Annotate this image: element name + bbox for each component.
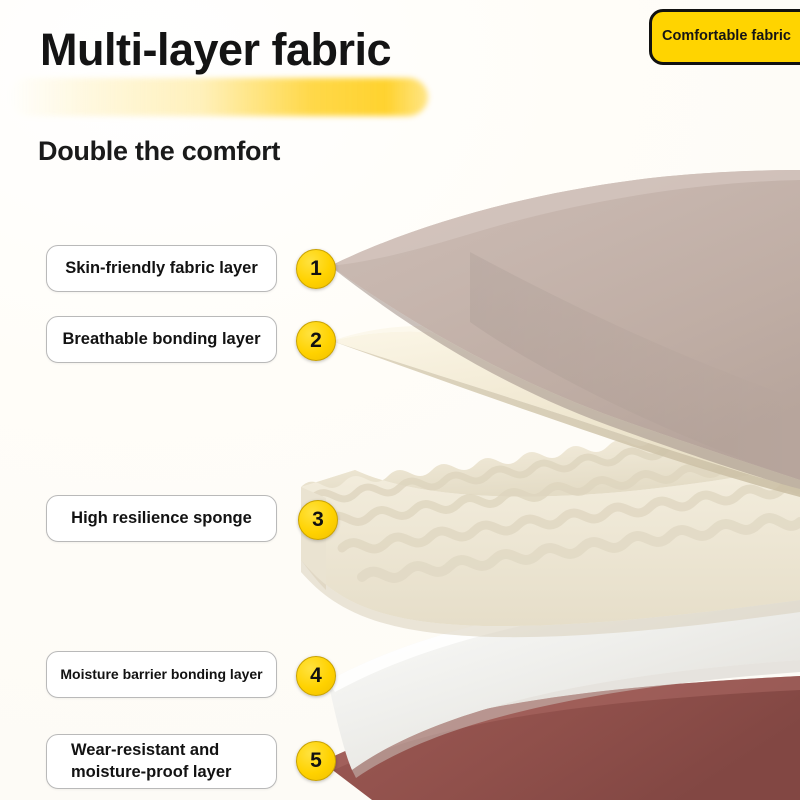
- layer-number-marker-5[interactable]: 5: [296, 741, 336, 781]
- page-title: Multi-layer fabric: [40, 24, 391, 76]
- label-pill-breathable-bonding-layer[interactable]: Breathable bonding layer: [46, 316, 277, 363]
- label-pill-skin-friendly-fabric-layer[interactable]: Skin-friendly fabric layer: [46, 245, 277, 292]
- label-pill-high-resilience-sponge[interactable]: High resilience sponge: [46, 495, 277, 542]
- label-text-1: Skin-friendly fabric layer: [65, 258, 258, 279]
- layer-number-marker-1[interactable]: 1: [296, 249, 336, 289]
- label-text-2: Breathable bonding layer: [62, 329, 260, 350]
- label-pill-wear-resistant-moisture-proof-layer[interactable]: Wear-resistant and moisture-proof layer: [46, 734, 277, 789]
- label-text-4: Moisture barrier bonding layer: [60, 666, 262, 684]
- label-text-5: Wear-resistant and moisture-proof layer: [47, 740, 276, 782]
- layer-number-marker-2[interactable]: 2: [296, 321, 336, 361]
- comfortable-fabric-badge-label: Comfortable fabric: [662, 28, 791, 44]
- yellow-brush-stroke: [8, 78, 428, 116]
- layer-number-marker-3[interactable]: 3: [298, 500, 338, 540]
- infographic-canvas: Multi-layer fabric Double the comfort Co…: [0, 0, 800, 800]
- page-subtitle: Double the comfort: [38, 136, 280, 167]
- layer-number-marker-4[interactable]: 4: [296, 656, 336, 696]
- label-text-3: High resilience sponge: [71, 508, 252, 529]
- label-pill-moisture-barrier-bonding-layer[interactable]: Moisture barrier bonding layer: [46, 651, 277, 698]
